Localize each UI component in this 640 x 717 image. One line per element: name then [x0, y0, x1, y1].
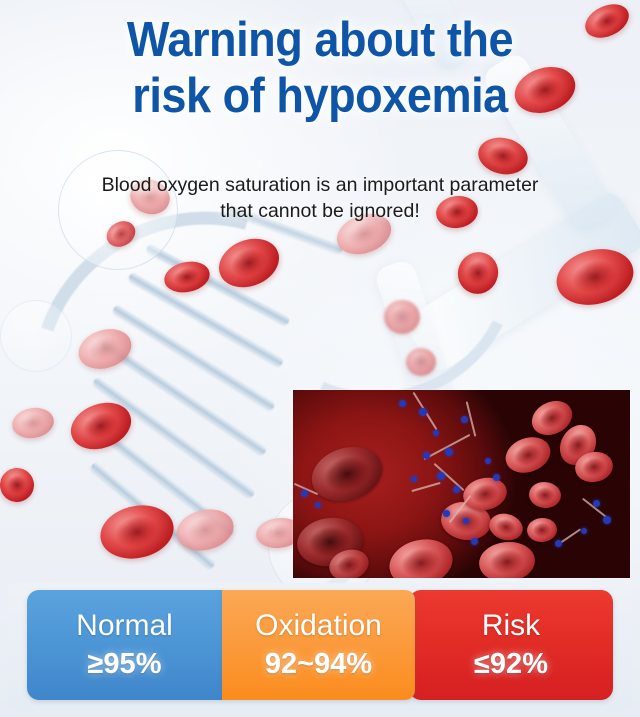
hypoxemia-warning-poster: Warning about the risk of hypoxemia Bloo… [0, 0, 640, 717]
molecule-bond [411, 482, 440, 492]
page-title: Warning about the risk of hypoxemia [26, 12, 615, 124]
status-panel-oxidation[interactable]: Oxidation 92~94% [222, 590, 415, 700]
molecule-atom [411, 476, 417, 482]
molecule-atom [423, 452, 430, 459]
molecule-atom [593, 500, 600, 507]
molecule-atom [399, 400, 406, 407]
photo-red-blood-cell [528, 480, 563, 509]
bubble-shape [0, 300, 72, 372]
molecule-atom [301, 490, 308, 497]
molecule-atom [443, 510, 450, 517]
status-panel-oxidation-label: Oxidation [255, 609, 382, 643]
title-line-1: Warning about the [127, 13, 513, 67]
photo-red-blood-cell [486, 510, 526, 544]
subtitle-line-1: Blood oxygen saturation is an important … [102, 174, 539, 196]
status-panel-normal[interactable]: Normal ≥95% [27, 590, 222, 700]
red-blood-cell [384, 300, 420, 334]
molecule-atom [555, 540, 562, 547]
status-panels: Normal ≥95% Oxidation 92~94% Risk ≤92% [27, 590, 613, 700]
molecule-atom [471, 538, 478, 545]
status-panel-risk[interactable]: Risk ≤92% [409, 590, 613, 700]
molecule-atom [419, 408, 427, 416]
molecule-atom [433, 430, 439, 436]
photo-red-blood-cell [384, 533, 457, 578]
molecule-atom [463, 518, 469, 524]
photo-red-blood-cell [526, 517, 558, 543]
photo-red-blood-cell [501, 431, 556, 479]
subtitle-line-2: that cannot be ignored! [30, 198, 610, 224]
photo-red-blood-cell [305, 438, 390, 510]
red-blood-cell [406, 348, 436, 376]
molecule-atom [581, 528, 587, 534]
molecule-bond [424, 434, 471, 460]
molecule-atom [485, 458, 491, 464]
molecule-atom [437, 472, 445, 480]
status-panel-normal-label: Normal [76, 609, 173, 643]
photo-red-blood-cell [477, 539, 537, 578]
page-subtitle: Blood oxygen saturation is an important … [30, 172, 610, 224]
molecule-atom [493, 474, 500, 481]
molecule-atom [453, 486, 460, 493]
title-line-2: risk of hypoxemia [26, 68, 615, 124]
molecule-atom [445, 448, 453, 456]
status-panel-normal-value: ≥95% [88, 647, 162, 681]
status-panel-risk-label: Risk [482, 609, 540, 643]
status-panel-oxidation-value: 92~94% [265, 647, 372, 681]
molecule-atom [315, 502, 321, 508]
molecule-atom [461, 416, 468, 423]
molecule-atom [603, 516, 611, 524]
status-panel-risk-value: ≤92% [474, 647, 548, 681]
blood-vessel-microscopy-photo [293, 390, 630, 578]
status-banner: Normal ≥95% Oxidation 92~94% Risk ≤92% [8, 583, 632, 711]
